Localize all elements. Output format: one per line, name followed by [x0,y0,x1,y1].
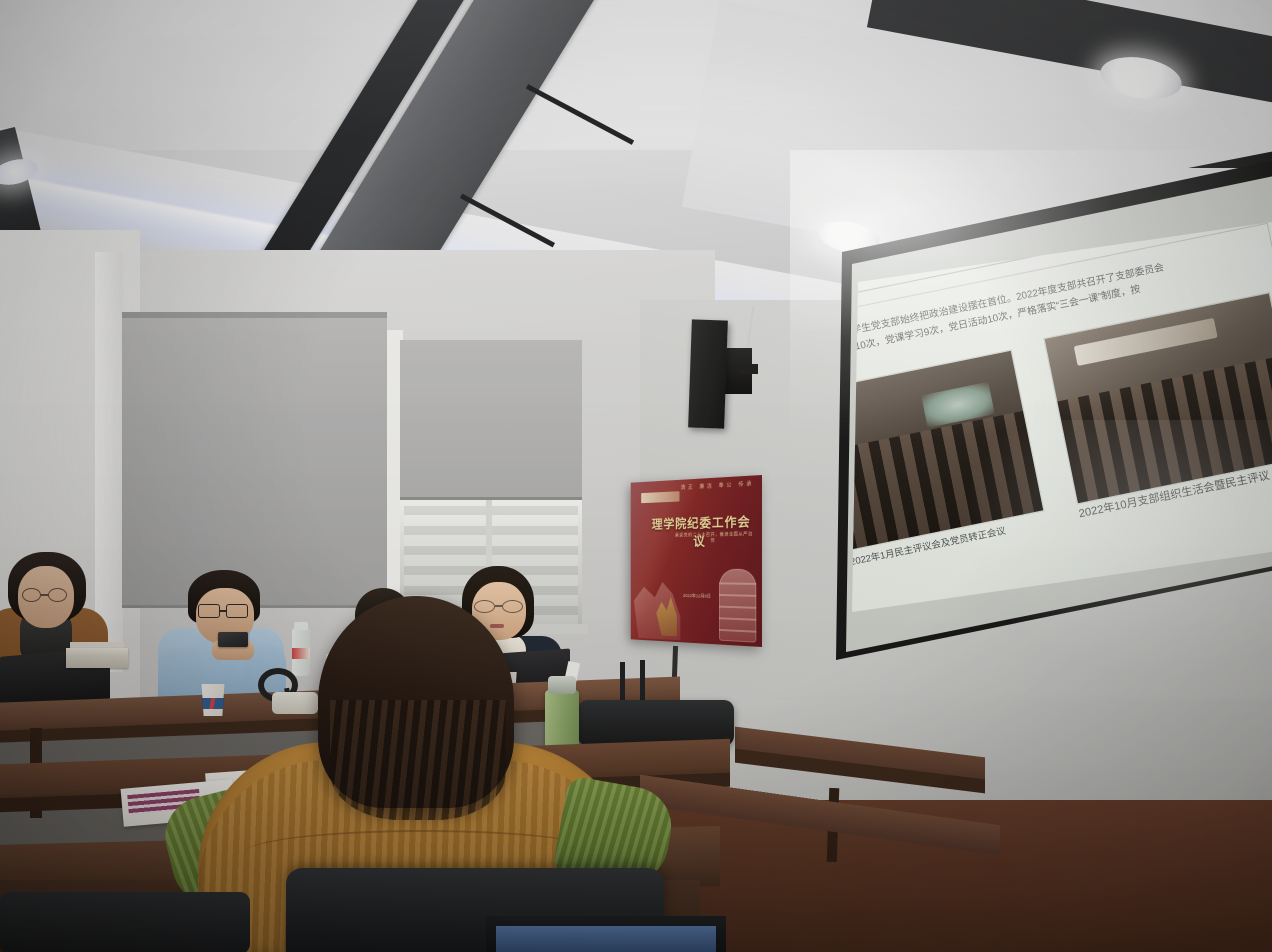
eyeglasses-icon [474,600,495,613]
office-chair[interactable] [0,892,250,952]
eyeglasses-icon [198,604,220,618]
window-roller-blind[interactable] [122,318,387,608]
green-thermos[interactable] [545,690,579,752]
eyeglasses-icon [48,588,67,602]
stacked-books [66,648,128,668]
screen-roller-bar[interactable] [812,150,1272,168]
bottle-label [292,648,310,659]
bottle-cap [294,622,308,630]
window-roller-blind[interactable] [400,340,582,500]
university-logo [641,491,679,503]
wall-speaker [688,319,728,428]
paper-cup-band [200,698,226,709]
event-banner: 清正 廉洁 奉公 传承 理学院纪委工作会议 喜迎党的二十大召开，推进全面从严治党… [631,475,762,647]
banner-subtitle: 喜迎党的二十大召开，推进全面从严治党 [673,531,754,544]
meeting-room-photo: 理论学习指导实践，勇当强化思想引领的“排头兵” 理学院数学系学生党支部始终把政治… [0,0,1272,952]
eyeglasses-icon [226,604,248,618]
eyeglasses-bridge [219,610,227,612]
smartphone[interactable] [218,632,248,647]
eyeglasses-bridge [495,605,503,607]
eyeglasses-bridge [41,594,49,596]
wall-pillar [95,252,123,672]
eyeglasses-icon [22,588,41,602]
desk-microphone[interactable] [272,692,318,714]
person-hair-strands [330,700,506,820]
eyeglasses-icon [502,600,523,613]
thermos-cap[interactable] [548,676,576,694]
speaker-arm [740,364,758,374]
person-mouth [490,624,504,628]
projected-slide: 理论学习指导实践，勇当强化思想引领的“排头兵” 理学院数学系学生党支部始终把政治… [832,222,1272,612]
monitor-screen [496,926,716,952]
